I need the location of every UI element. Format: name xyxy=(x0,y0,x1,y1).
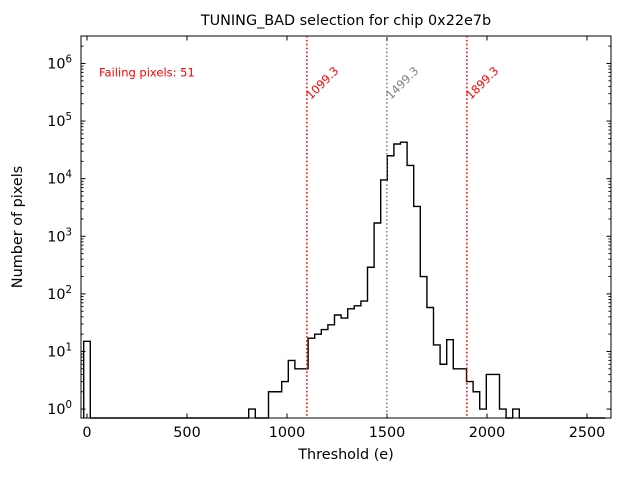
x-tick-label: 2000 xyxy=(469,425,506,441)
plot-frame xyxy=(81,36,611,418)
chart-figure: TUNING_BAD selection for chip 0x22e7b 10… xyxy=(0,0,640,480)
x-tick-label: 2500 xyxy=(569,425,606,441)
x-tick-label: 0 xyxy=(82,425,91,441)
histogram-plot: TUNING_BAD selection for chip 0x22e7b 10… xyxy=(0,0,640,480)
annotations: Failing pixels: 51 xyxy=(99,65,195,79)
x-tick-label: 1000 xyxy=(269,425,306,441)
y-tick-label: 106 xyxy=(47,54,72,72)
y-tick-label: 104 xyxy=(47,170,72,188)
y-tick-label: 101 xyxy=(47,342,72,360)
x-axis: 05001000150020002500 xyxy=(82,36,605,441)
target-threshold-label: 1499.3 xyxy=(383,64,421,102)
y-tick-label: 100 xyxy=(47,400,72,418)
failing-pixels-annotation: Failing pixels: 51 xyxy=(99,65,195,79)
y-tick-label: 103 xyxy=(47,227,72,245)
upper-threshold-label: 1899.3 xyxy=(463,64,501,102)
histogram-outline xyxy=(84,142,605,418)
lower-threshold-label: 1099.3 xyxy=(303,64,341,102)
x-axis-label: Threshold (e) xyxy=(297,447,394,463)
y-tick-label: 105 xyxy=(47,112,72,130)
histogram-series xyxy=(84,142,605,418)
y-axis-label: Number of pixels xyxy=(10,166,26,288)
y-axis: 100101102103104105106 xyxy=(47,36,611,418)
x-tick-label: 500 xyxy=(173,425,200,441)
x-tick-label: 1500 xyxy=(369,425,406,441)
threshold-lines: 1099.31499.31899.3 xyxy=(303,36,501,418)
y-tick-label: 102 xyxy=(47,285,72,303)
chart-title: TUNING_BAD selection for chip 0x22e7b xyxy=(200,13,491,29)
